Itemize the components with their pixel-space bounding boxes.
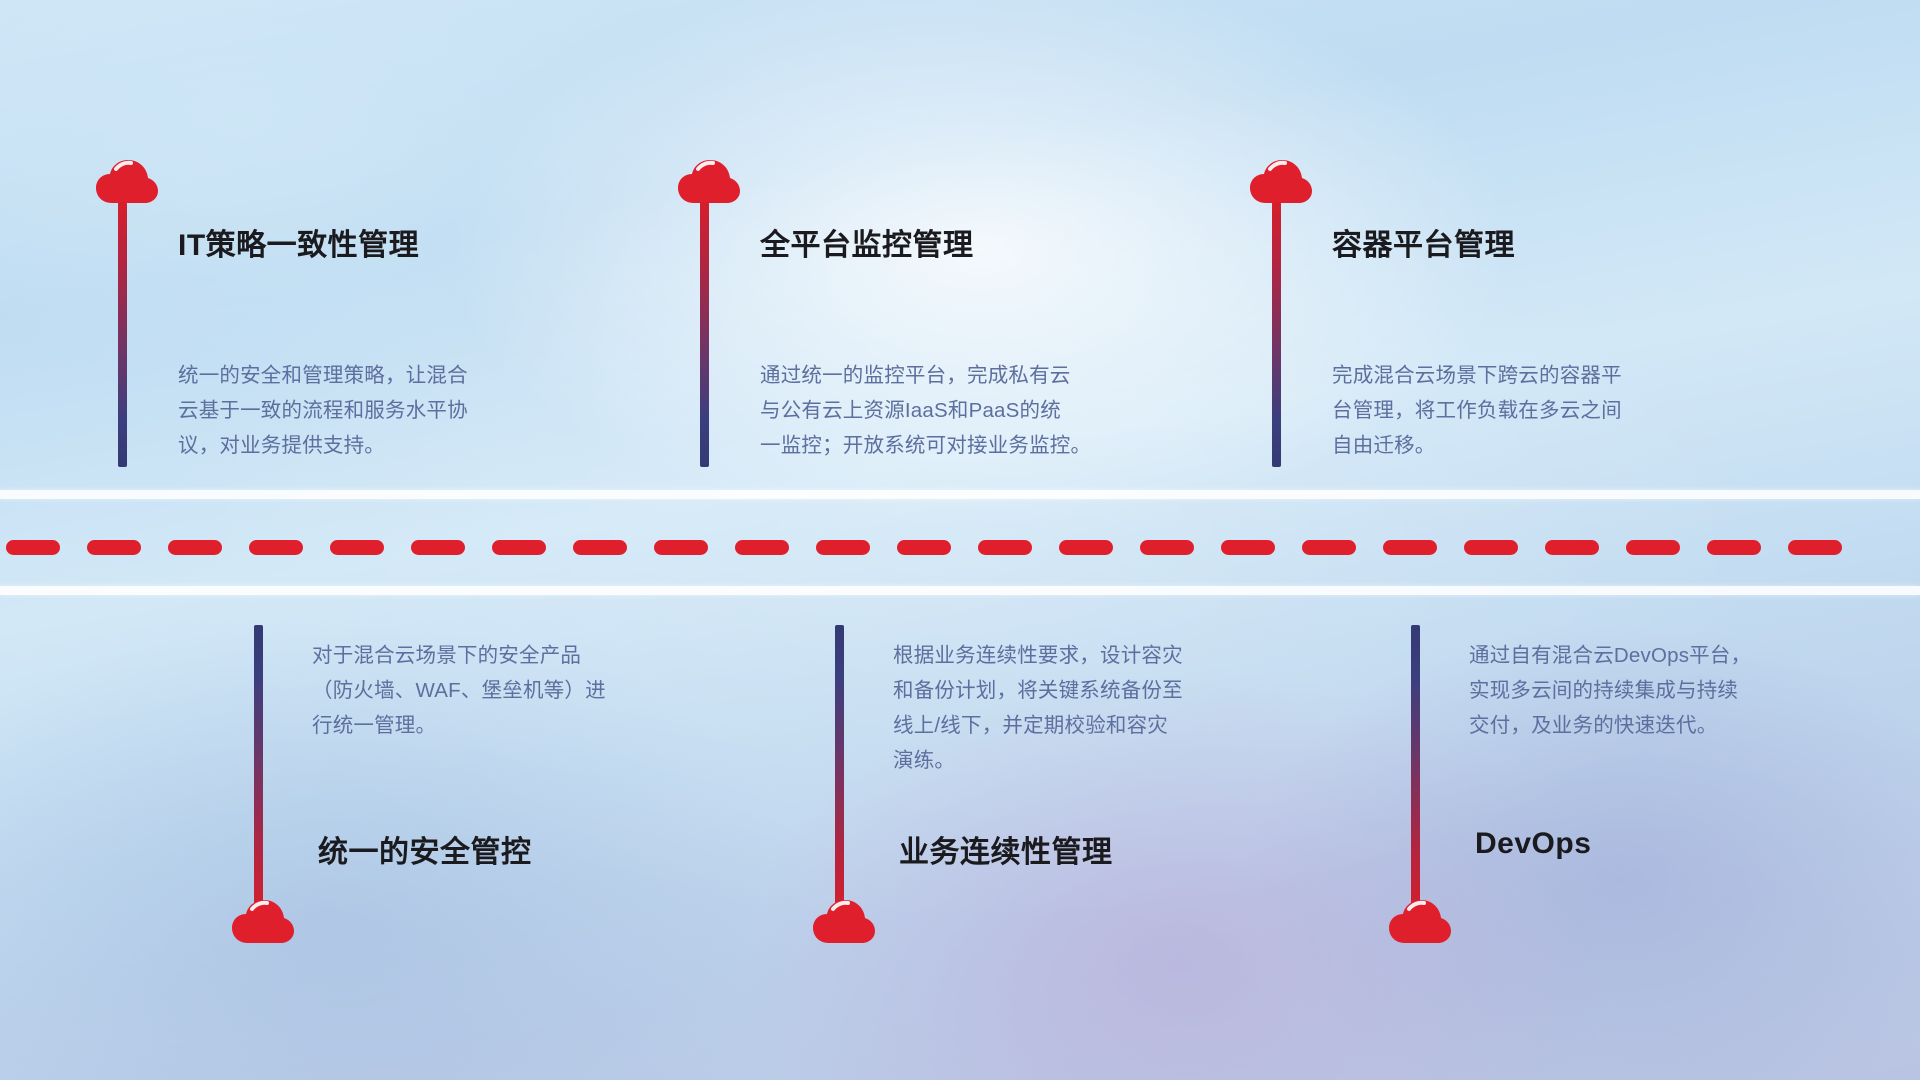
connector-stem bbox=[1272, 202, 1281, 467]
road-dash bbox=[735, 540, 789, 555]
card-body: 根据业务连续性要求，设计容灾 和备份计划，将关键系统备份至 线上/线下，并定期校… bbox=[893, 638, 1273, 778]
road-dash bbox=[411, 540, 465, 555]
road-dash bbox=[249, 540, 303, 555]
road-dash bbox=[1626, 540, 1680, 555]
cloud-icon bbox=[813, 900, 875, 944]
road-dash bbox=[168, 540, 222, 555]
card-body: 完成混合云场景下跨云的容器平 台管理，将工作负载在多云之间 自由迁移。 bbox=[1332, 358, 1712, 463]
connector-stem bbox=[700, 202, 709, 467]
connector-stem bbox=[254, 625, 263, 915]
cloud-icon bbox=[678, 160, 740, 204]
card-title: 全平台监控管理 bbox=[760, 220, 974, 264]
road-dash bbox=[654, 540, 708, 555]
road-dash bbox=[87, 540, 141, 555]
road-dash bbox=[6, 540, 60, 555]
road-dash bbox=[1302, 540, 1356, 555]
road-dash bbox=[1383, 540, 1437, 555]
cloud-icon bbox=[1250, 160, 1312, 204]
card-title: 容器平台管理 bbox=[1332, 220, 1515, 264]
card-body: 对于混合云场景下的安全产品 （防火墙、WAF、堡垒机等）进 行统一管理。 bbox=[312, 638, 692, 743]
road-dash bbox=[897, 540, 951, 555]
connector-stem bbox=[1411, 625, 1420, 915]
card-body: 通过自有混合云DevOps平台， 实现多云间的持续集成与持续 交付，及业务的快速… bbox=[1469, 638, 1849, 743]
road-dash bbox=[492, 540, 546, 555]
cloud-icon bbox=[232, 900, 294, 944]
road-stripe-top bbox=[0, 490, 1920, 499]
card-title: DevOps bbox=[1475, 827, 1591, 861]
connector-stem bbox=[118, 202, 127, 467]
infographic-canvas: IT策略一致性管理 统一的安全和管理策略，让混合 云基于一致的流程和服务水平协 … bbox=[0, 0, 1920, 1080]
cloud-icon bbox=[1389, 900, 1451, 944]
road-center-dashes bbox=[0, 539, 1920, 555]
road-stripe-bottom bbox=[0, 586, 1920, 595]
road-dash bbox=[1221, 540, 1275, 555]
road-dash bbox=[1464, 540, 1518, 555]
road-dash bbox=[1059, 540, 1113, 555]
road-dash bbox=[573, 540, 627, 555]
card-body: 统一的安全和管理策略，让混合 云基于一致的流程和服务水平协 议，对业务提供支持。 bbox=[178, 358, 558, 463]
card-title: 统一的安全管控 bbox=[318, 827, 532, 871]
card-title: IT策略一致性管理 bbox=[178, 220, 419, 264]
road-dash bbox=[978, 540, 1032, 555]
card-title: 业务连续性管理 bbox=[899, 827, 1113, 871]
card-body: 通过统一的监控平台，完成私有云 与公有云上资源IaaS和PaaS的统 一监控；开… bbox=[760, 358, 1140, 463]
connector-stem bbox=[835, 625, 844, 915]
road-dash bbox=[1707, 540, 1761, 555]
cloud-icon bbox=[96, 160, 158, 204]
road-dash bbox=[1140, 540, 1194, 555]
road-dash bbox=[1545, 540, 1599, 555]
road-dash bbox=[330, 540, 384, 555]
road-dash bbox=[816, 540, 870, 555]
road-dash bbox=[1788, 540, 1842, 555]
